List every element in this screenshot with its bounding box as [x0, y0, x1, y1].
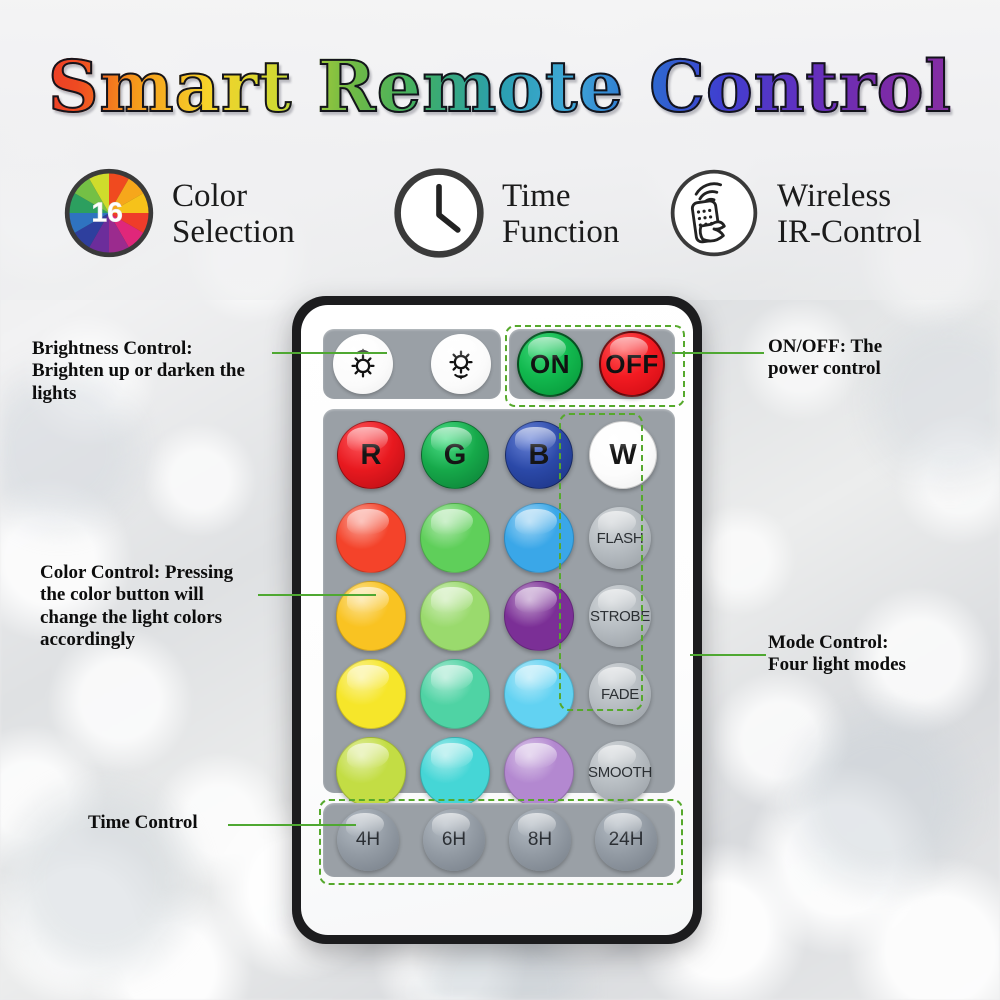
rgbw-label-b: B [529, 439, 550, 472]
color-swatch-r1c1[interactable] [336, 503, 406, 573]
leader-line-mode [690, 654, 766, 656]
remote-control-device: ON OFF R G B W [292, 296, 702, 944]
leader-line-brightness [272, 352, 387, 354]
feature-time-function: Time Function [392, 166, 667, 265]
timer-label-24h: 24H [609, 829, 644, 851]
power-on-label: ON [530, 349, 570, 380]
color-button-blue[interactable]: B [505, 421, 573, 489]
annotation-time: Time Control [88, 812, 248, 834]
main-keypad-panel: R G B W [323, 409, 675, 793]
mode-button-smooth[interactable]: SMOOTH [589, 741, 651, 803]
rgbw-label-g: G [444, 439, 467, 472]
color-button-green[interactable]: G [421, 421, 489, 489]
leader-line-power [672, 352, 764, 354]
color-swatch-r4c1[interactable] [336, 737, 406, 807]
mode-label-flash: FLASH [597, 530, 644, 547]
power-off-label: OFF [605, 349, 659, 380]
timer-panel: 4H 6H 8H 24H [323, 803, 675, 877]
color-count-badge: 16 [91, 195, 122, 227]
color-swatch-r3c2[interactable] [420, 659, 490, 729]
color-button-white[interactable]: W [589, 421, 657, 489]
color-swatch-r3c3[interactable] [504, 659, 574, 729]
power-on-button[interactable]: ON [517, 331, 583, 397]
mode-label-smooth: SMOOTH [588, 764, 652, 781]
color-button-red[interactable]: R [337, 421, 405, 489]
timer-label-8h: 8H [528, 829, 552, 851]
feature-label-wireless: Wireless IR-Control [777, 179, 922, 250]
annotation-mode: Mode Control: Four light modes [768, 632, 978, 677]
brightness-up-button[interactable] [333, 334, 393, 394]
feature-wireless-ir: Wireless IR-Control [667, 166, 962, 265]
feature-color-selection: 16 Color Selection [62, 166, 392, 265]
power-off-button[interactable]: OFF [599, 331, 665, 397]
poster-canvas: Smart Remote Control [0, 0, 1000, 1000]
color-swatch-r2c1[interactable] [336, 581, 406, 651]
color-wheel-icon: 16 [62, 166, 156, 265]
sun-down-icon [442, 345, 480, 383]
timer-button-6h[interactable]: 6H [423, 809, 485, 871]
color-swatch-r2c3[interactable] [504, 581, 574, 651]
rgbw-label-w: W [609, 439, 636, 472]
color-swatch-r4c3[interactable] [504, 737, 574, 807]
color-swatch-r2c2[interactable] [420, 581, 490, 651]
color-swatch-r4c2[interactable] [420, 737, 490, 807]
power-panel: ON OFF [509, 329, 675, 399]
color-swatch-r1c3[interactable] [504, 503, 574, 573]
mode-label-fade: FADE [601, 686, 639, 703]
clock-icon [392, 166, 486, 265]
timer-button-4h[interactable]: 4H [337, 809, 399, 871]
mode-button-flash[interactable]: FLASH [589, 507, 651, 569]
feature-label-time: Time Function [502, 179, 619, 250]
timer-label-6h: 6H [442, 829, 466, 851]
brightness-panel [323, 329, 501, 399]
mode-button-fade[interactable]: FADE [589, 663, 651, 725]
annotation-brightness: Brightness Control: Brighten up or darke… [32, 338, 282, 405]
timer-label-4h: 4H [356, 829, 380, 851]
brightness-down-button[interactable] [431, 334, 491, 394]
color-swatch-r1c2[interactable] [420, 503, 490, 573]
mode-button-strobe[interactable]: STROBE [589, 585, 651, 647]
mode-label-strobe: STROBE [590, 608, 650, 625]
annotation-color: Color Control: Pressing the color button… [40, 562, 282, 652]
remote-face: ON OFF R G B W [301, 305, 693, 935]
timer-button-8h[interactable]: 8H [509, 809, 571, 871]
page-title: Smart Remote Control [0, 52, 1000, 122]
wireless-remote-icon [667, 166, 761, 265]
timer-button-24h[interactable]: 24H [595, 809, 657, 871]
feature-label-color: Color Selection [172, 179, 295, 250]
feature-row: 16 Color Selection Time Function [62, 160, 962, 270]
sun-up-icon [344, 345, 382, 383]
color-swatch-r3c1[interactable] [336, 659, 406, 729]
rgbw-label-r: R [361, 439, 382, 472]
annotation-power: ON/OFF: The power control [768, 336, 978, 381]
